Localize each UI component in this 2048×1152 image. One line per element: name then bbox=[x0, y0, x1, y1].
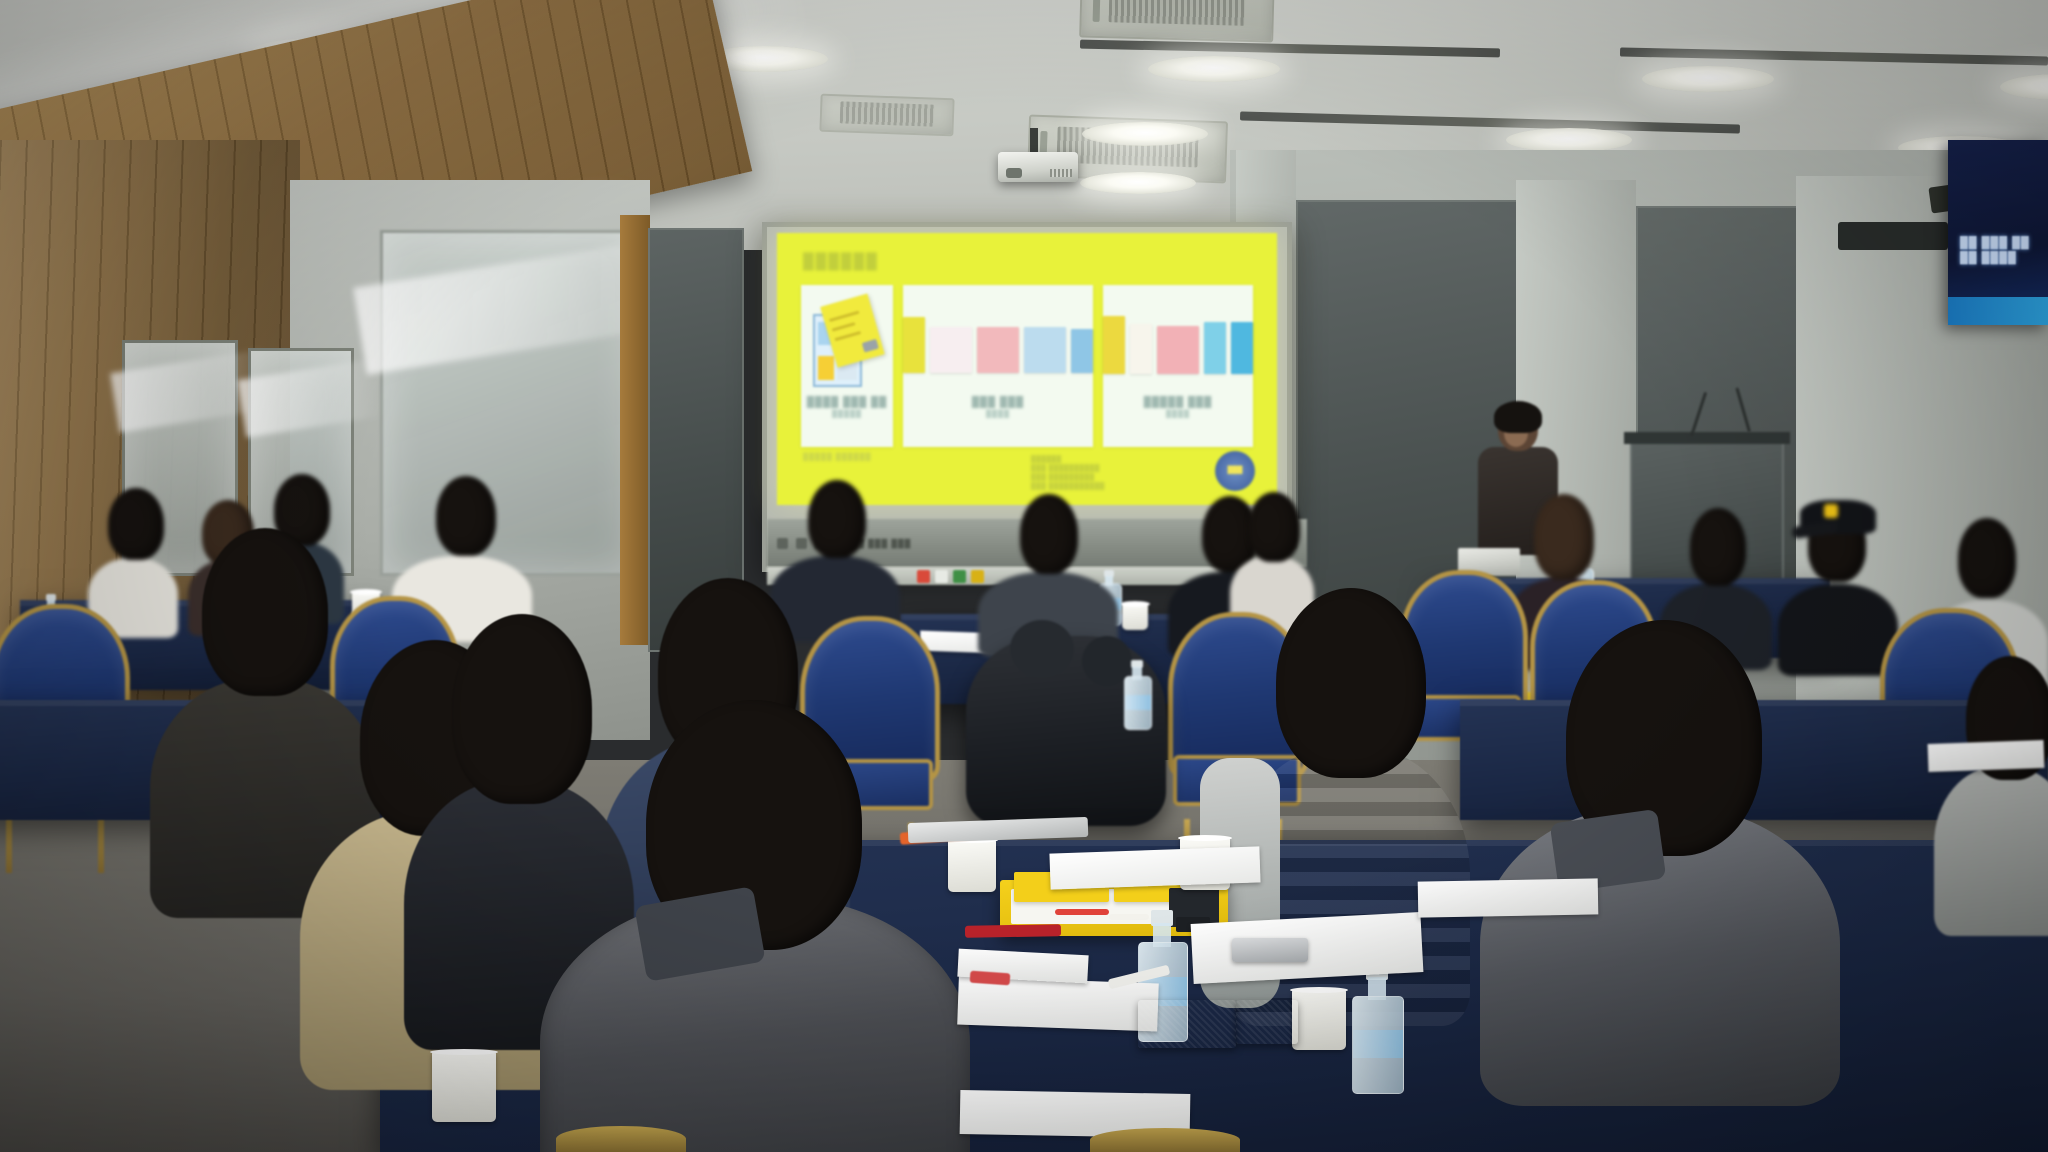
attendee-hoodie bbox=[1934, 656, 2048, 916]
panel-artwork-1 bbox=[808, 297, 885, 393]
handout-paper[interactable] bbox=[1049, 846, 1260, 889]
slide-panels: ████ ███ ██ █████ ███ ███ ██ bbox=[801, 285, 1253, 447]
handout-paper[interactable] bbox=[957, 977, 1159, 1032]
ac-unit-icon bbox=[819, 94, 954, 137]
cup-rim bbox=[1178, 835, 1232, 841]
artwork-card bbox=[1024, 327, 1066, 373]
artwork-card bbox=[1071, 329, 1093, 373]
artwork-block bbox=[818, 356, 834, 379]
handout-paper bbox=[1928, 740, 2045, 772]
artwork-card bbox=[930, 327, 972, 373]
slide-seal-text: ███ bbox=[1228, 467, 1243, 475]
artwork-card bbox=[1130, 324, 1152, 374]
paper-cup[interactable] bbox=[948, 840, 996, 892]
presenter-hair bbox=[1494, 401, 1542, 433]
downlight-icon bbox=[1148, 56, 1280, 82]
banner-accent-strip bbox=[1948, 297, 2048, 325]
tray-icon[interactable] bbox=[953, 570, 966, 583]
artwork-line bbox=[832, 322, 856, 331]
artwork-card bbox=[1103, 316, 1125, 374]
slide-title: ██████ bbox=[803, 253, 879, 270]
artwork-line bbox=[835, 331, 862, 341]
cap-logo-icon bbox=[1824, 504, 1838, 518]
projector-lens-icon bbox=[1006, 168, 1022, 178]
artwork-card bbox=[1157, 326, 1199, 374]
ceiling-slot bbox=[1240, 111, 1740, 133]
cup-rim bbox=[430, 1049, 498, 1055]
panel-subcaption: █████ bbox=[832, 411, 862, 418]
artwork-card bbox=[1231, 322, 1253, 374]
downlight-icon bbox=[1506, 128, 1632, 152]
ac-grille bbox=[1108, 0, 1246, 26]
fabric-pouch[interactable] bbox=[1236, 1000, 1298, 1044]
panel-caption: ████ ███ ██ bbox=[807, 397, 887, 408]
projector-icon bbox=[998, 152, 1078, 182]
slide-footnote: █████ ██████ bbox=[803, 454, 872, 461]
paper-cup[interactable] bbox=[1292, 990, 1346, 1050]
slide-panel: ████ ███ ██ █████ bbox=[801, 285, 893, 447]
bottle-body bbox=[1352, 996, 1404, 1094]
tray-icon[interactable] bbox=[935, 570, 948, 583]
banner-line-2: ██ ████ bbox=[1960, 251, 2030, 266]
handout-paper[interactable] bbox=[1418, 878, 1599, 917]
panel-subcaption: ████ bbox=[1166, 411, 1190, 418]
artwork-card-row bbox=[903, 317, 1093, 373]
banner-line-1: ██ ███ ██ bbox=[1960, 236, 2030, 251]
slide-note-line: ██████ bbox=[1031, 455, 1191, 464]
marker-pen bbox=[1055, 909, 1109, 915]
ac-grille bbox=[840, 102, 934, 126]
panel-subcaption: ████ bbox=[986, 411, 1010, 418]
ac-vane bbox=[1093, 0, 1101, 22]
attendee-head bbox=[1020, 494, 1078, 574]
chair-back-foreground bbox=[556, 1126, 686, 1152]
downlight-icon bbox=[1082, 122, 1208, 146]
paper-cup[interactable] bbox=[432, 1052, 496, 1122]
panel-artwork-2 bbox=[918, 297, 1078, 393]
attendee-head bbox=[1248, 492, 1300, 562]
slide-note-line: ███ ███████████ bbox=[1031, 482, 1191, 491]
wall-speaker-icon bbox=[1838, 222, 1948, 250]
slide-panel: █████ ███ ████ bbox=[1103, 285, 1253, 447]
artwork-line bbox=[829, 311, 859, 322]
downlight-icon bbox=[1080, 172, 1196, 194]
slide-note-line: ███ ██████████ bbox=[1031, 464, 1191, 473]
fabric-pouch[interactable] bbox=[1138, 1000, 1236, 1048]
projector-vent bbox=[1050, 169, 1072, 177]
cup-rim bbox=[1290, 987, 1348, 993]
artwork-card bbox=[977, 327, 1019, 373]
artwork-card-row bbox=[1103, 316, 1253, 374]
panel-caption: ███ ███ bbox=[972, 397, 1024, 408]
presentation-slide: ██████ bbox=[777, 233, 1277, 505]
bottle-label bbox=[1353, 1030, 1403, 1059]
ceiling-slot bbox=[1620, 48, 2048, 66]
phone-device[interactable] bbox=[1232, 938, 1308, 962]
attendee-head bbox=[1276, 588, 1426, 778]
slide-seal-badge: ███ bbox=[1215, 451, 1255, 491]
downlight-icon bbox=[1642, 66, 1774, 92]
photo-scene: ██ ███ ██ ██ ████ ██████ bbox=[0, 0, 2048, 1152]
water-bottle bbox=[1124, 660, 1150, 730]
water-bottle[interactable] bbox=[1352, 964, 1402, 1094]
tray-icon[interactable] bbox=[917, 570, 930, 583]
wall-banner: ██ ███ ██ ██ ████ bbox=[1948, 140, 2048, 325]
slide-panel: ███ ███ ████ bbox=[903, 285, 1093, 447]
jacket-collar bbox=[1010, 620, 1074, 678]
projector-mount bbox=[1030, 128, 1038, 154]
marker-pen[interactable] bbox=[965, 924, 1061, 938]
slide-notes: ██████ ███ ██████████ ███ █████████ ███ … bbox=[1031, 455, 1191, 491]
attendee-head bbox=[436, 476, 496, 556]
attendee-head bbox=[1690, 508, 1746, 586]
artwork-chip bbox=[862, 339, 879, 353]
lectern-top bbox=[1624, 432, 1790, 444]
attendee-foreground-center bbox=[540, 700, 970, 1152]
attendee-head bbox=[1958, 518, 2016, 598]
chair-back-foreground bbox=[1090, 1128, 1240, 1152]
banner-text: ██ ███ ██ ██ ████ bbox=[1960, 236, 2030, 266]
ac-unit-icon bbox=[1079, 0, 1275, 43]
attendee-shoulders bbox=[1934, 766, 2048, 936]
artwork-card bbox=[1204, 322, 1226, 374]
slide-note-line: ███ █████████ bbox=[1031, 473, 1191, 482]
artwork-card bbox=[903, 317, 925, 373]
panel-caption: █████ ███ bbox=[1144, 397, 1212, 408]
ceiling-slot bbox=[1080, 40, 1500, 58]
attendee-foreground-right bbox=[1480, 620, 1840, 1060]
bottle-body bbox=[1124, 676, 1152, 730]
downlight-icon bbox=[2000, 74, 2048, 100]
panel-artwork-3 bbox=[1115, 297, 1241, 393]
bottle-label bbox=[1125, 695, 1151, 711]
attendee-head bbox=[808, 480, 866, 558]
attendee-head bbox=[1534, 494, 1594, 580]
